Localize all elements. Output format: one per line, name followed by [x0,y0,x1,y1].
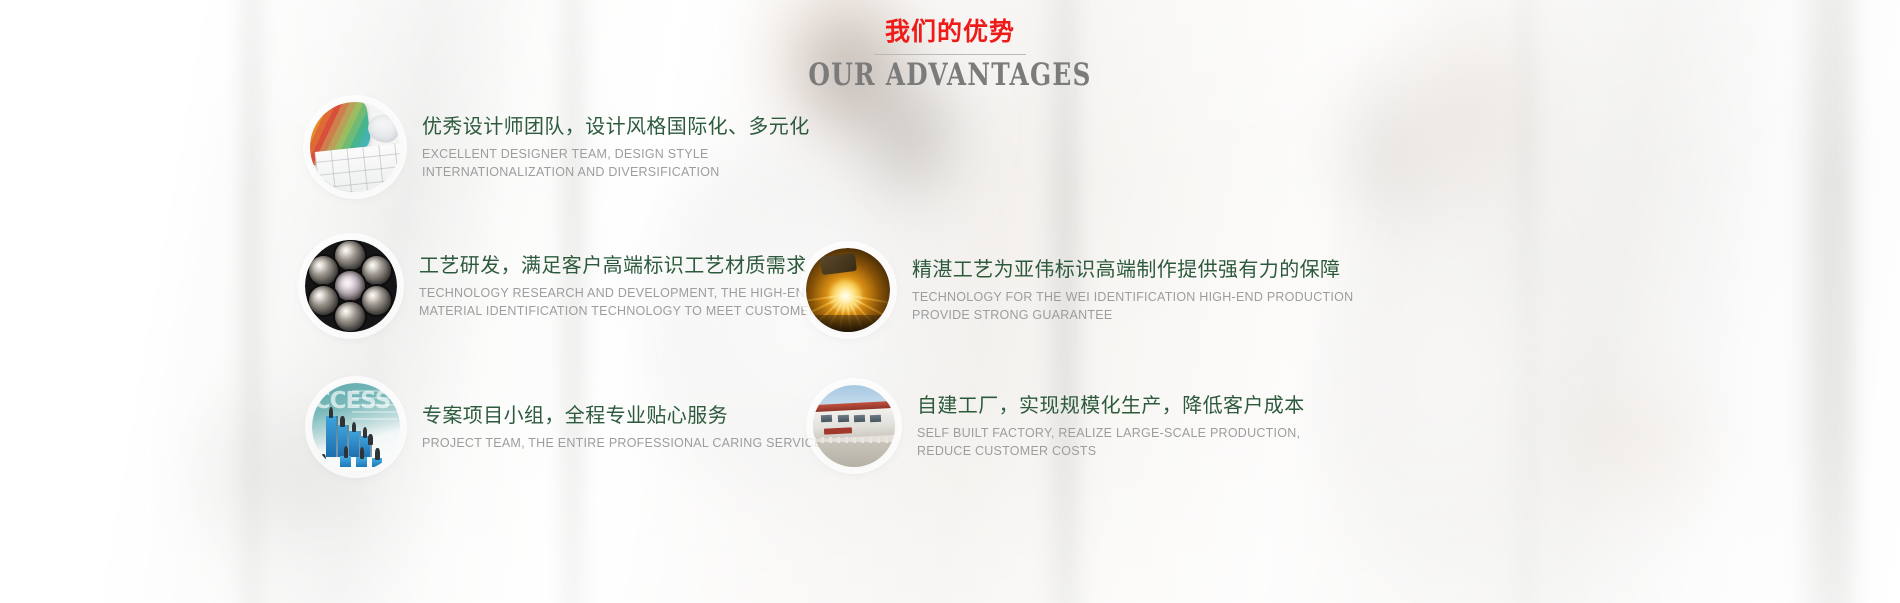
page-title-english: OUR ADVANTAGES [190,57,1710,95]
advantage-caption: PROJECT TEAM, THE ENTIRE PROFESSIONAL CA… [422,435,831,453]
factory-building-icon [813,385,895,467]
advantage-heading: 专案项目小组，全程专业贴心服务 [422,402,831,428]
success-bar-chart-icon: CCESS [312,383,400,471]
advantage-item-designer-team[interactable]: 优秀设计师团队，设计风格国际化、多元化 EXCELLENT DESIGNER T… [310,102,852,192]
advantages-section: 我们的优势 OUR ADVANTAGES 优秀设计师团队，设计风格国际化、多元化… [0,0,1900,603]
advantage-heading: 自建工厂，实现规模化生产，降低客户成本 [917,392,1347,418]
metal-pipes-icon [305,240,397,332]
advantage-caption: SELF BUILT FACTORY, REALIZE LARGE-SCALE … [917,425,1347,461]
color-swatch-blueprint-icon [310,102,400,192]
advantage-caption: EXCELLENT DESIGNER TEAM, DESIGN STYLE IN… [422,146,852,182]
advantage-item-craftsmanship[interactable]: 精湛工艺为亚伟标识高端制作提供强有力的保障 TECHNOLOGY FOR THE… [806,248,1372,332]
advantage-item-self-built-factory[interactable]: 自建工厂，实现规模化生产，降低客户成本 SELF BUILT FACTORY, … [813,385,1347,467]
title-divider [874,54,1026,55]
advantage-item-project-team[interactable]: CCESS 专案项目小组，全程专业贴心服务 PROJECT TEAM, THE … [312,383,831,471]
section-header: 我们的优势 OUR ADVANTAGES [0,18,1900,95]
advantage-heading: 优秀设计师团队，设计风格国际化、多元化 [422,113,852,139]
advantage-heading: 精湛工艺为亚伟标识高端制作提供强有力的保障 [912,256,1372,282]
page-title-chinese: 我们的优势 [0,18,1900,47]
advantage-item-technology-rd[interactable]: 工艺研发，满足客户高端标识工艺材质需求 TECHNOLOGY RESEARCH … [305,240,879,332]
advantage-caption: TECHNOLOGY FOR THE WEI IDENTIFICATION HI… [912,289,1372,325]
welding-sparks-icon [806,248,890,332]
